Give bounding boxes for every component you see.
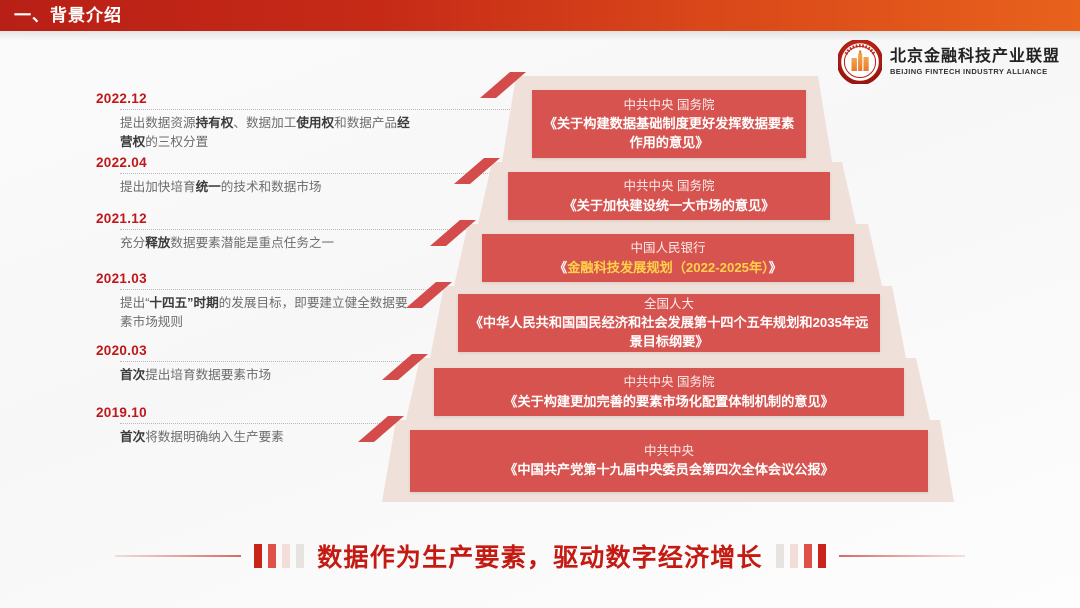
banner-bars-left	[254, 544, 304, 568]
slide-header: 一、背景介绍	[0, 0, 1080, 31]
policy-card[interactable]: 全国人大《中华人民共和国国民经济和社会发展第十四个五年规划和2035年远景目标纲…	[458, 294, 880, 352]
banner-rule-left	[115, 555, 241, 557]
brand-name-en: BEIJING FINTECH INDUSTRY ALLIANCE	[890, 68, 1060, 76]
banner-bar	[804, 544, 812, 568]
policy-document-title: 《关于加快建设统一大市场的意见》	[564, 196, 775, 215]
banner-bar	[818, 544, 826, 568]
policy-document-title: 《中国共产党第十九届中央委员会第四次全体会议公报》	[504, 460, 834, 479]
policy-document-title: 《中华人民共和国国民经济和社会发展第十四个五年规划和2035年远景目标纲要》	[468, 313, 870, 351]
policy-issuer: 中共中央 国务院	[624, 96, 715, 114]
banner-bar	[296, 544, 304, 568]
policy-card[interactable]: 中共中央《中国共产党第十九届中央委员会第四次全体会议公报》	[410, 430, 928, 492]
page-title: 一、背景介绍	[0, 7, 122, 24]
policy-issuer: 中共中央 国务院	[624, 177, 715, 195]
policy-card[interactable]: 中共中央 国务院《关于构建数据基础制度更好发挥数据要素作用的意见》	[532, 90, 806, 158]
banner-bar	[254, 544, 262, 568]
banner-bar	[790, 544, 798, 568]
policy-issuer: 中共中央 国务院	[624, 373, 715, 391]
policy-issuer: 全国人大	[644, 295, 694, 313]
staircase-diagram: 中共中央 国务院《关于构建数据基础制度更好发挥数据要素作用的意见》中共中央 国务…	[330, 76, 1070, 506]
policy-document-title: 《金融科技发展规划（2022-2025年）》	[554, 258, 782, 277]
slide-canvas: 一、背景介绍	[0, 0, 1080, 608]
banner-headline: 数据作为生产要素，驱动数字经济增长	[317, 538, 762, 574]
policy-issuer: 中国人民银行	[630, 239, 705, 257]
banner-bars-right	[776, 544, 826, 568]
brand-text: 北京金融科技产业联盟 BEIJING FINTECH INDUSTRY ALLI…	[890, 49, 1060, 76]
banner-bar	[282, 544, 290, 568]
banner-bar	[776, 544, 784, 568]
policy-card[interactable]: 中国人民银行《金融科技发展规划（2022-2025年）》	[482, 234, 854, 282]
policy-card[interactable]: 中共中央 国务院《关于构建更加完善的要素市场化配置体制机制的意见》	[434, 368, 904, 416]
policy-document-title: 《关于构建数据基础制度更好发挥数据要素作用的意见》	[542, 114, 796, 152]
policy-card[interactable]: 中共中央 国务院《关于加快建设统一大市场的意见》	[508, 172, 830, 220]
banner-rule-right	[839, 555, 965, 557]
banner-bar	[268, 544, 276, 568]
bottom-banner: 数据作为生产要素，驱动数字经济增长	[0, 538, 1080, 574]
policy-document-title: 《关于构建更加完善的要素市场化配置体制机制的意见》	[504, 392, 834, 411]
brand-name-cn: 北京金融科技产业联盟	[890, 49, 1060, 65]
policy-issuer: 中共中央	[644, 442, 694, 460]
